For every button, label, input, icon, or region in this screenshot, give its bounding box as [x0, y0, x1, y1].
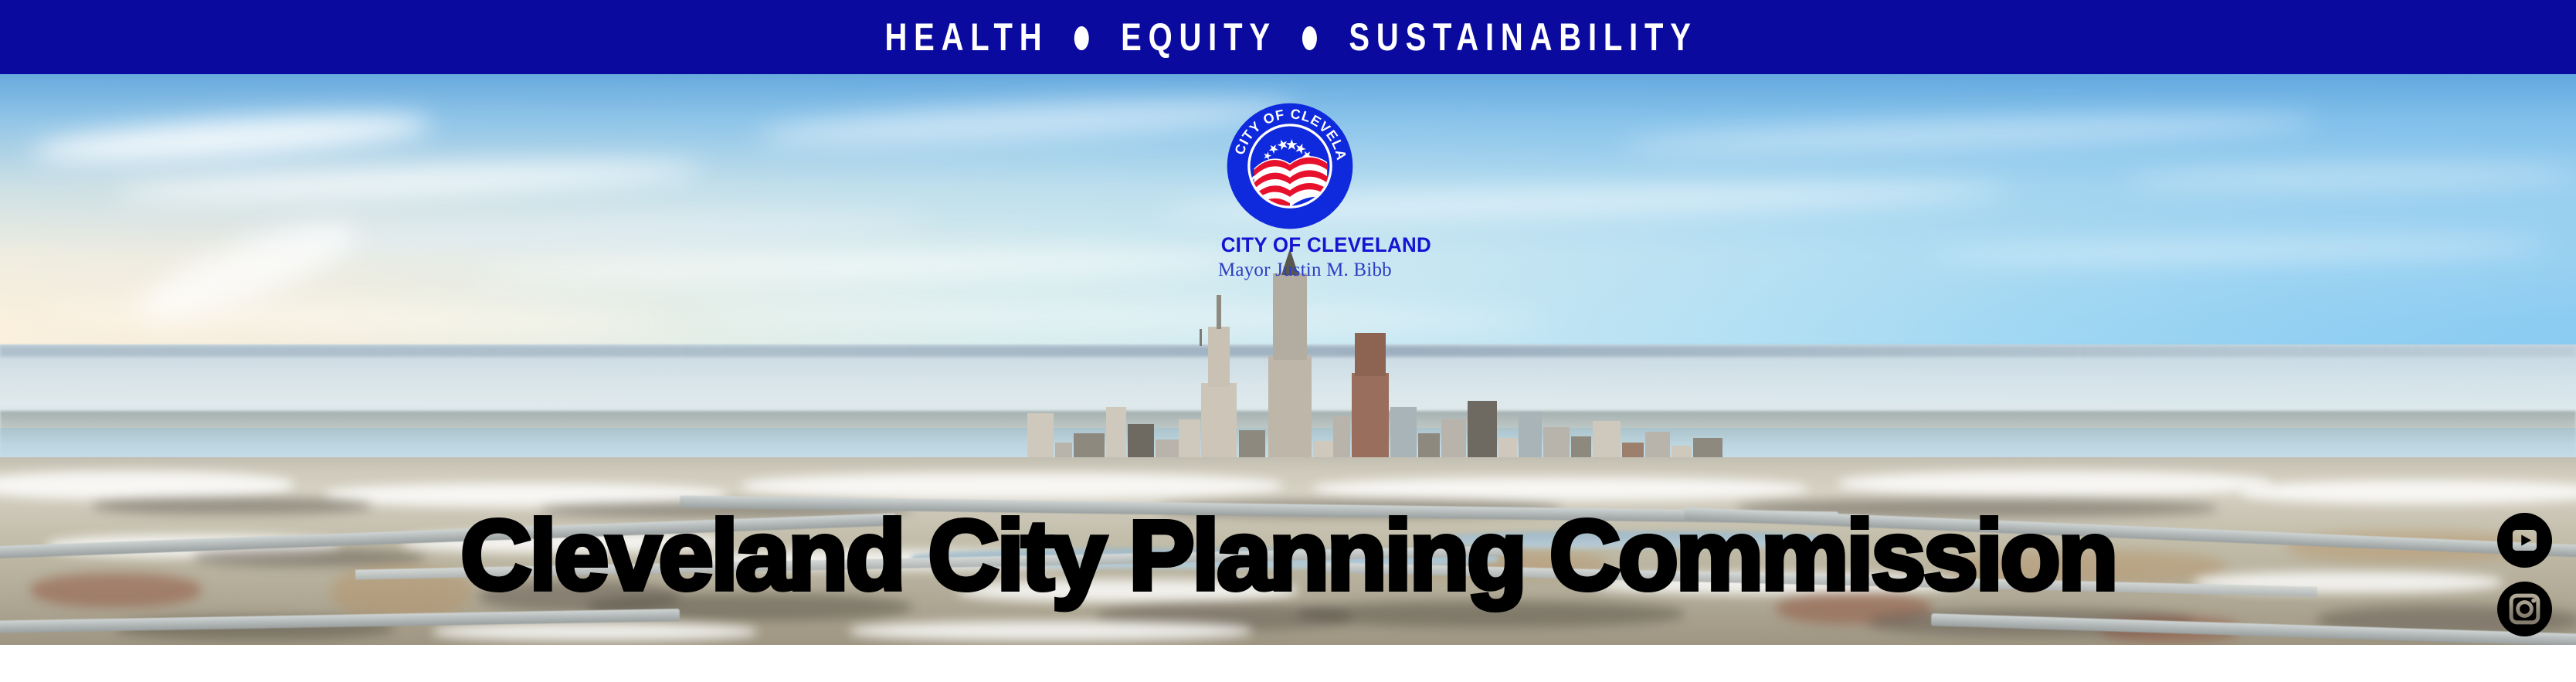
page-title: Cleveland City Planning Commission — [0, 507, 2576, 606]
tagline-bar: HEALTH EQUITY SUSTAINABILITY — [0, 0, 2576, 74]
city-branding: CITY OF CLEVELAND OHIO — [1218, 102, 1362, 304]
social-links — [2497, 513, 2553, 645]
tagline-word-equity: EQUITY — [1121, 18, 1277, 56]
city-of-cleveland-ohio-seal: CITY OF CLEVELAND OHIO — [1226, 102, 1354, 230]
city-wordmark: CITY OF CLEVELAND Mayor Justin M. Bibb — [1218, 234, 1362, 281]
city-of-cleveland-label: CITY OF CLEVELAND — [1221, 234, 1359, 256]
hero-photo: CITY OF CLEVELAND OHIO — [0, 74, 2576, 645]
tagline-word-health: HEALTH — [885, 18, 1049, 56]
tagline-text: HEALTH EQUITY SUSTAINABILITY — [878, 18, 1698, 56]
bullet-dot-icon — [1302, 26, 1317, 50]
instagram-icon[interactable] — [2497, 582, 2552, 636]
tagline-word-sustainability: SUSTAINABILITY — [1349, 18, 1698, 56]
mayor-name-label: Mayor Justin M. Bibb — [1218, 260, 1362, 281]
page-root: HEALTH EQUITY SUSTAINABILITY — [0, 0, 2576, 682]
youtube-icon[interactable] — [2497, 513, 2552, 568]
bullet-dot-icon — [1074, 26, 1089, 50]
terminal-tower-spire — [1200, 329, 1202, 346]
